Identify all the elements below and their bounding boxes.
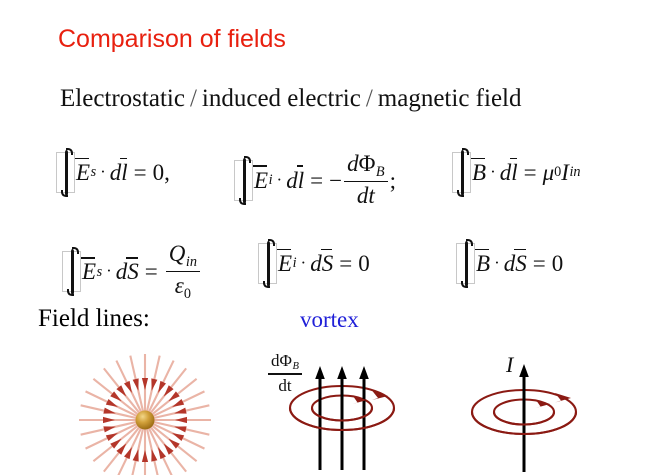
eq-right-hand-side: 0 xyxy=(358,252,370,275)
dot-product-operator: · xyxy=(490,254,504,271)
induced-vortex-svg xyxy=(288,360,438,475)
eq-path-element: l xyxy=(298,169,304,192)
eq-path-element: l xyxy=(511,161,517,184)
eq-differential: d xyxy=(310,252,322,275)
eq-surface-element: S xyxy=(127,260,139,283)
dot-product-operator: · xyxy=(486,163,500,180)
equation-gauss-magnetic: B · dS = 0 xyxy=(456,243,563,284)
dot-product-operator: · xyxy=(273,171,287,188)
eq-field-symbol: B xyxy=(476,252,490,275)
subtitle-field-categories: Electrostatic/induced electric/magnetic … xyxy=(60,84,522,114)
contour-integral-icon xyxy=(456,243,475,284)
fraction-numerator: dΦB xyxy=(344,152,388,181)
contour-integral-icon xyxy=(452,152,471,193)
eq-relation: = xyxy=(139,260,164,283)
subtitle-induced-electric: induced electric xyxy=(202,85,361,112)
flux-arrows-group xyxy=(320,374,364,470)
eq-minus-sign: − xyxy=(329,169,342,192)
denominator-subscript: 0 xyxy=(184,287,191,302)
radial-rays-group xyxy=(79,354,211,475)
charge-over-permittivity-fraction: Qin ε0 xyxy=(166,242,200,302)
page-title: Comparison of fields xyxy=(58,24,286,54)
fraction-denominator: ε0 xyxy=(172,272,194,302)
subtitle-electrostatic: Electrostatic xyxy=(60,85,185,112)
radial-field-lines-diagram xyxy=(70,345,230,475)
dot-product-operator: · xyxy=(297,254,311,271)
eq-relation: = xyxy=(527,252,552,275)
eq-differential: d xyxy=(116,260,128,283)
denominator-permittivity: ε xyxy=(175,273,184,298)
equation-ampere-circulation: B · dl = μ0Iin xyxy=(452,152,581,193)
equation-induced-circulation: Ei · dl = − dΦB dt ; xyxy=(234,152,396,208)
eq-right-hand-side: 0 xyxy=(552,252,564,275)
permeability-symbol: μ xyxy=(543,161,555,184)
subtitle-separator-2: / xyxy=(361,85,378,112)
eq-differential: d xyxy=(110,161,122,184)
fraction-numerator: Qin xyxy=(166,242,200,271)
radial-field-svg xyxy=(70,345,230,475)
eq-relation: = xyxy=(333,252,358,275)
eq-field-symbol: E xyxy=(76,161,90,184)
equation-electrostatic-circulation: Es · dl = 0, xyxy=(56,152,170,193)
eq-right-hand-side: 0, xyxy=(153,161,170,184)
eq-field-symbol: E xyxy=(82,260,96,283)
subtitle-magnetic-field: magnetic field xyxy=(378,85,522,112)
numerator-subscript: B xyxy=(376,165,385,180)
eq-relation: = xyxy=(128,161,153,184)
numerator-charge: Q xyxy=(169,241,186,266)
subtitle-separator-1: / xyxy=(185,85,202,112)
current-symbol: I xyxy=(561,161,569,184)
induced-vortex-diagram xyxy=(288,360,438,475)
eq-field-symbol: B xyxy=(472,161,486,184)
eq-surface-element: S xyxy=(515,252,527,275)
eq-surface-element: S xyxy=(322,252,334,275)
eq-trailing-punctuation: ; xyxy=(390,169,396,192)
equation-gauss-electrostatic: Es · dS = Qin ε0 xyxy=(62,242,202,302)
eq-relation: = xyxy=(518,161,543,184)
equation-gauss-induced: Ei · dS = 0 xyxy=(258,243,370,284)
eq-differential: d xyxy=(500,161,512,184)
contour-integral-icon xyxy=(56,152,75,193)
magnetic-loops-svg xyxy=(470,360,620,475)
contour-integral-icon xyxy=(234,160,253,201)
numerator-subscript: in xyxy=(186,255,197,270)
current-arrow-group xyxy=(519,364,529,472)
current-subscript: in xyxy=(569,165,580,179)
dot-product-operator: · xyxy=(102,262,116,279)
eq-field-symbol: E xyxy=(278,252,292,275)
point-charge-sphere xyxy=(136,411,155,430)
circulation-arrowheads xyxy=(536,393,572,408)
magnetic-loops-diagram xyxy=(470,360,620,475)
eq-relation: = xyxy=(304,169,329,192)
eq-differential: d xyxy=(504,252,516,275)
flux-arrowheads xyxy=(315,366,369,379)
numerator-phi: Φ xyxy=(359,151,376,176)
dot-product-operator: · xyxy=(96,163,110,180)
contour-integral-icon xyxy=(258,243,277,284)
flux-rate-fraction: dΦB dt xyxy=(344,152,388,208)
eq-field-symbol: E xyxy=(254,169,268,192)
contour-integral-icon xyxy=(62,251,81,292)
vortex-label: vortex xyxy=(300,307,359,333)
fraction-denominator: dt xyxy=(354,182,378,208)
numerator-d: d xyxy=(271,351,280,370)
eq-path-element: l xyxy=(121,161,127,184)
eq-differential: d xyxy=(286,169,298,192)
numerator-d: d xyxy=(347,151,359,176)
field-lines-label: Field lines: xyxy=(38,305,150,333)
current-arrowhead xyxy=(519,364,529,377)
